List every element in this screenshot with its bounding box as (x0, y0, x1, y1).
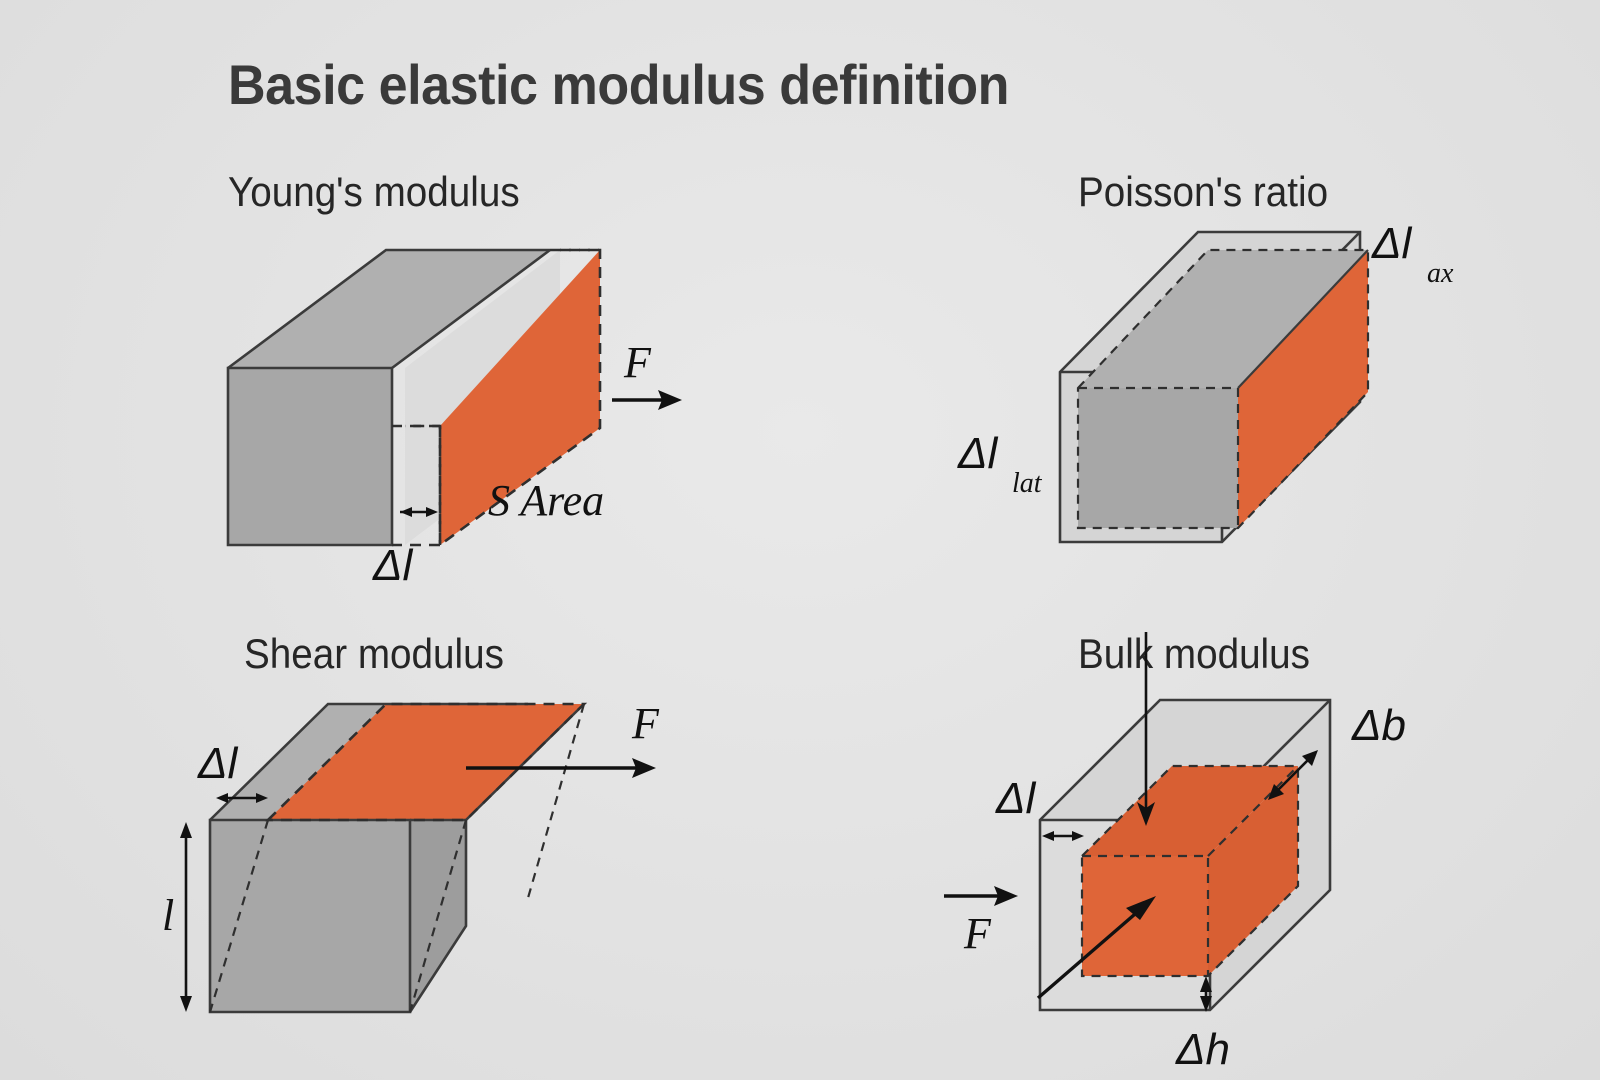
young-delta-l-label: Δl (372, 541, 414, 590)
panel-title-young: Young's modulus (228, 168, 520, 216)
young-force-label: F (623, 338, 652, 387)
bulk-modulus-diagram: Δl Δb Δh F (960, 680, 1520, 1070)
bulk-force-label: F (963, 909, 992, 958)
young-modulus-diagram: Δl F S Area (200, 220, 720, 600)
shear-height-arrow (180, 822, 192, 1012)
poisson-deformed-front (1078, 388, 1238, 528)
poisson-lateral-label-group: Δl lat (957, 429, 1043, 499)
panel-title-poisson: Poisson's ratio (1078, 168, 1328, 216)
bulk-inner-front (1082, 856, 1208, 976)
poisson-ratio-diagram: Δl ax Δl lat (940, 210, 1500, 570)
poisson-lateral-subscript: lat (1012, 468, 1043, 499)
poisson-lateral-label: Δl (957, 429, 999, 478)
young-force-arrow (612, 390, 682, 410)
poisson-axial-subscript: ax (1427, 258, 1454, 289)
shear-modulus-diagram: Δl l F (170, 680, 730, 1040)
young-front-face (228, 368, 392, 545)
page-title: Basic elastic modulus definition (228, 52, 1009, 117)
poisson-axial-label-group: Δl ax (1371, 219, 1454, 289)
bulk-force-arrow (944, 886, 1018, 906)
young-area-label: S Area (488, 476, 604, 525)
figure-root: Basic elastic modulus definition Young's… (0, 0, 1600, 1080)
panel-title-shear: Shear modulus (244, 630, 504, 678)
poisson-axial-label: Δl (1371, 219, 1413, 268)
panel-title-bulk: Bulk modulus (1078, 630, 1310, 678)
bulk-delta-b-label: Δb (1351, 701, 1406, 750)
shear-delta-l-label: Δl (197, 739, 239, 788)
shear-height-label: l (162, 891, 174, 940)
shear-force-label: F (631, 699, 660, 748)
bulk-delta-l-label: Δl (995, 774, 1037, 823)
bulk-delta-h-label: Δh (1175, 1025, 1230, 1074)
